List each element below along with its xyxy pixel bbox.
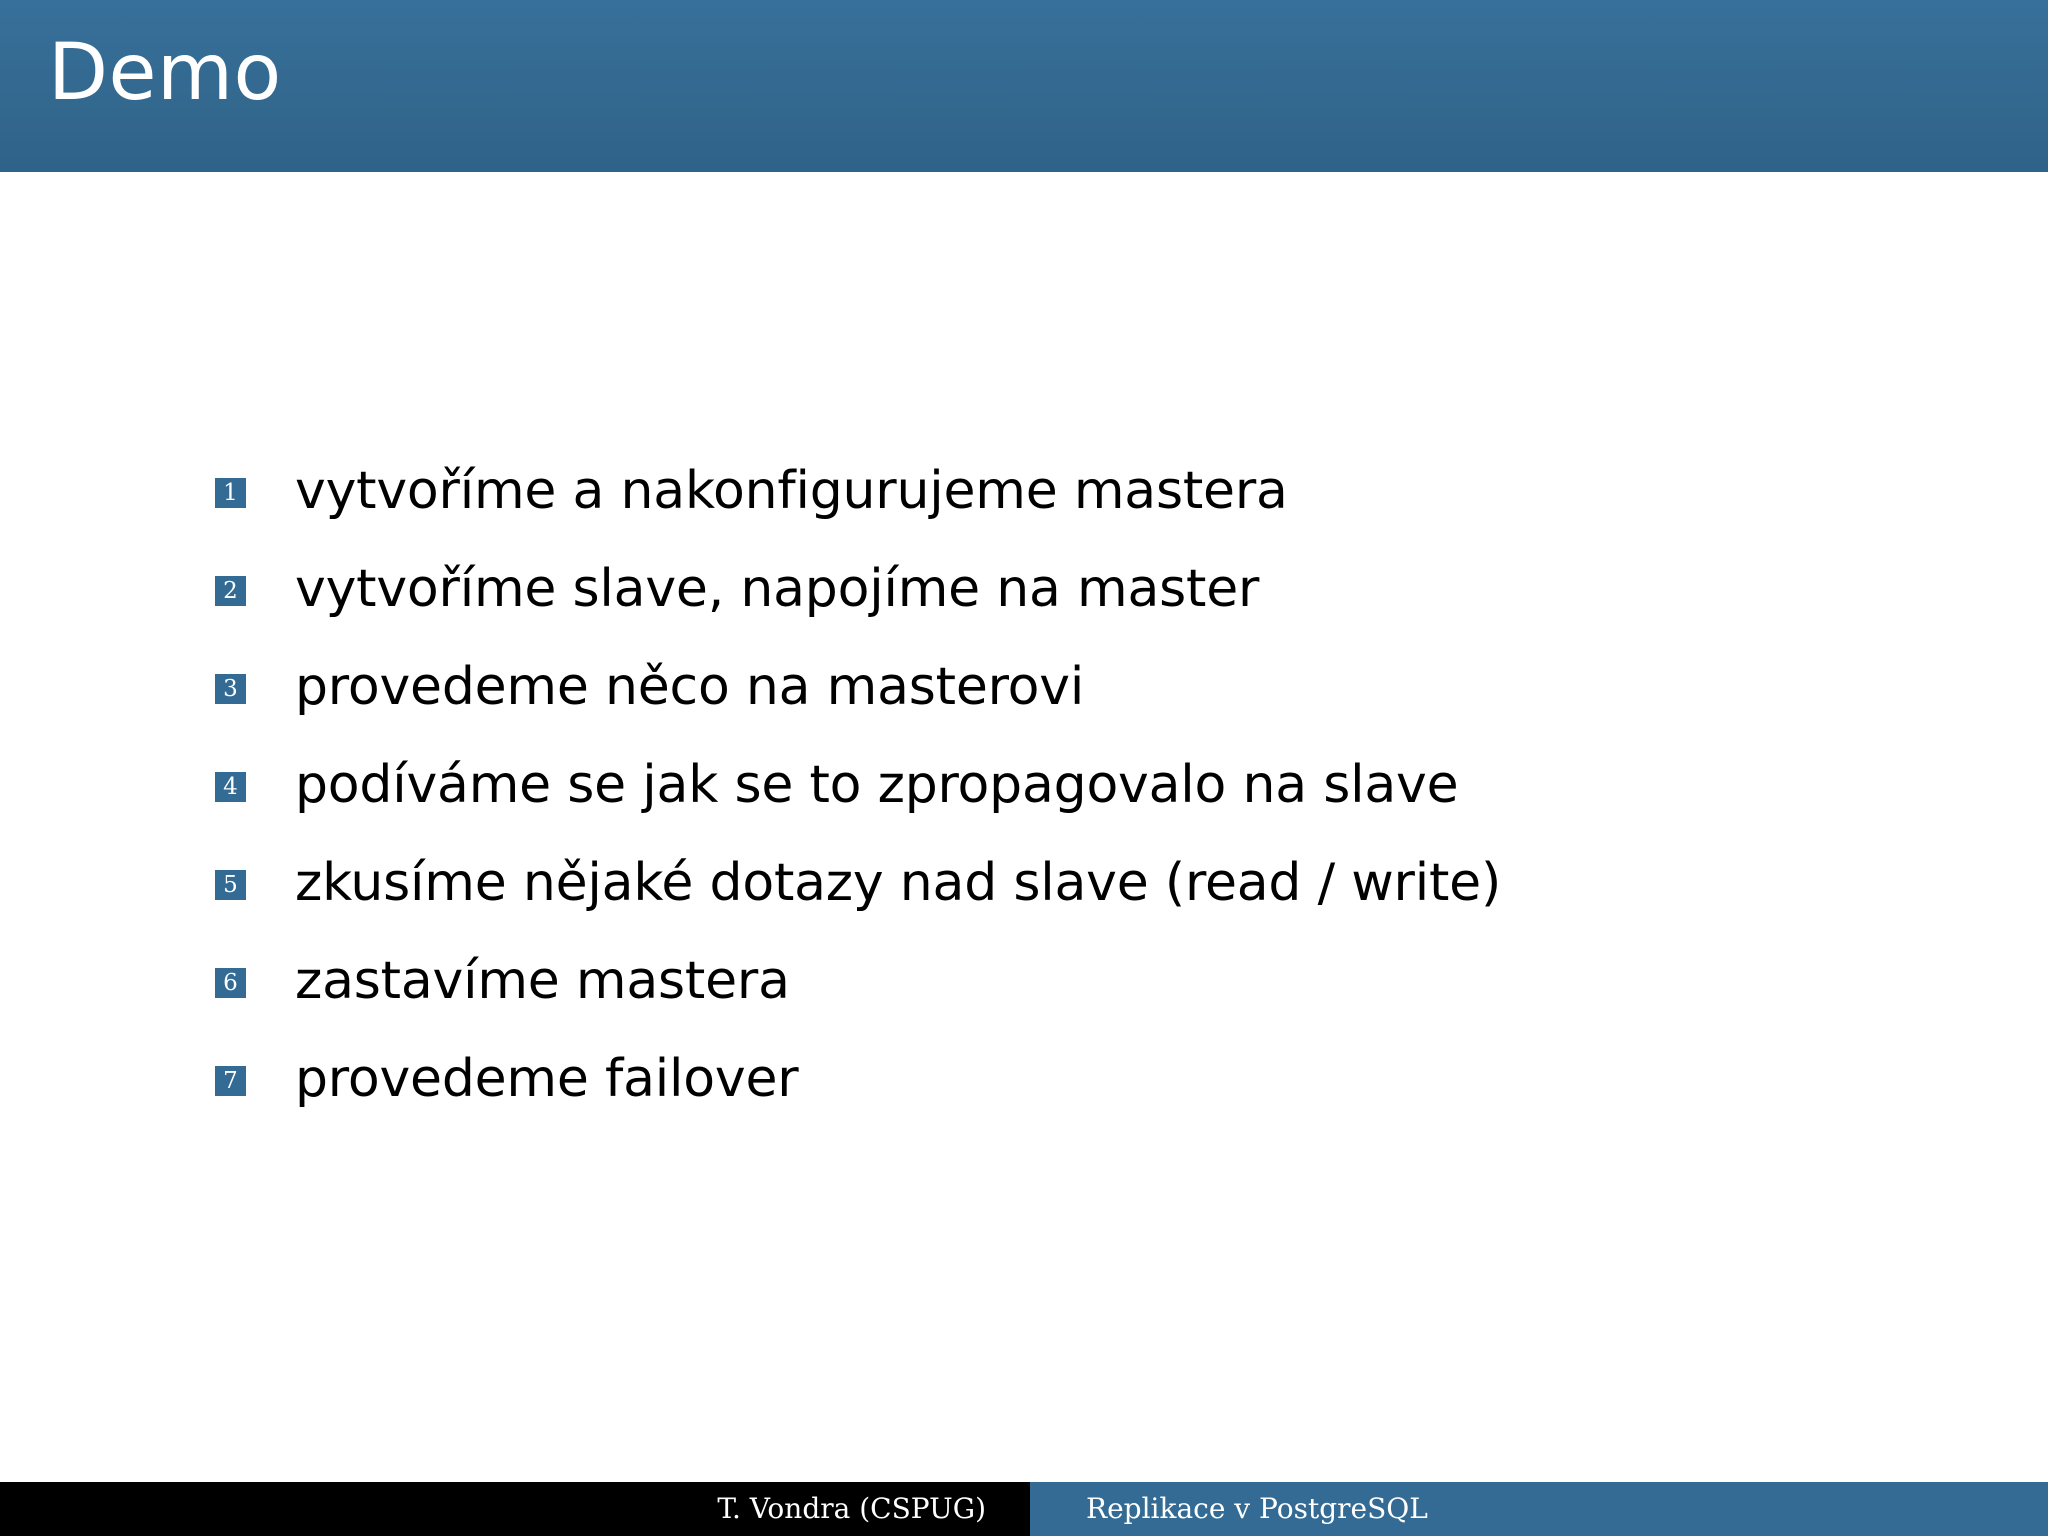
footer-title-section: Replikace v PostgreSQL	[1030, 1482, 2048, 1536]
list-item: 6 zastavíme mastera	[215, 952, 1915, 1050]
list-item: 3 provedeme něco na masterovi	[215, 658, 1915, 756]
list-item-number-badge: 3	[215, 674, 246, 704]
enumerated-list: 1 vytvoříme a nakonfigurujeme mastera 2 …	[215, 462, 1915, 1148]
list-item: 1 vytvoříme a nakonfigurujeme mastera	[215, 462, 1915, 560]
list-item: 4 podíváme se jak se to zpropagovalo na …	[215, 756, 1915, 854]
list-item: 2 vytvoříme slave, napojíme na master	[215, 560, 1915, 658]
list-item-label: podíváme se jak se to zpropagovalo na sl…	[295, 756, 1458, 814]
footer-author-section: T. Vondra (CSPUG)	[0, 1482, 1030, 1536]
list-item-label: provedeme něco na masterovi	[295, 658, 1084, 716]
slide-header-bar: Demo	[0, 0, 2048, 172]
page-title: Demo	[48, 34, 282, 112]
list-item-number-badge: 2	[215, 576, 246, 606]
list-item-label: zkusíme nějaké dotazy nad slave (read / …	[295, 854, 1501, 912]
list-item-number-badge: 5	[215, 870, 246, 900]
list-item: 5 zkusíme nějaké dotazy nad slave (read …	[215, 854, 1915, 952]
list-item-number-badge: 7	[215, 1066, 246, 1096]
list-item-number-badge: 4	[215, 772, 246, 802]
list-item-number-badge: 1	[215, 478, 246, 508]
list-item: 7 provedeme failover	[215, 1050, 1915, 1148]
list-item-label: vytvoříme slave, napojíme na master	[295, 560, 1259, 618]
footer-talk-title-label: Replikace v PostgreSQL	[1086, 1482, 1428, 1536]
footer-author-label: T. Vondra (CSPUG)	[717, 1482, 986, 1536]
slide-body: 1 vytvoříme a nakonfigurujeme mastera 2 …	[0, 172, 2048, 1482]
list-item-label: vytvoříme a nakonfigurujeme mastera	[295, 462, 1288, 520]
list-item-number-badge: 6	[215, 968, 246, 998]
slide-footer: T. Vondra (CSPUG) Replikace v PostgreSQL	[0, 1482, 2048, 1536]
list-item-label: provedeme failover	[295, 1050, 798, 1108]
list-item-label: zastavíme mastera	[295, 952, 790, 1010]
